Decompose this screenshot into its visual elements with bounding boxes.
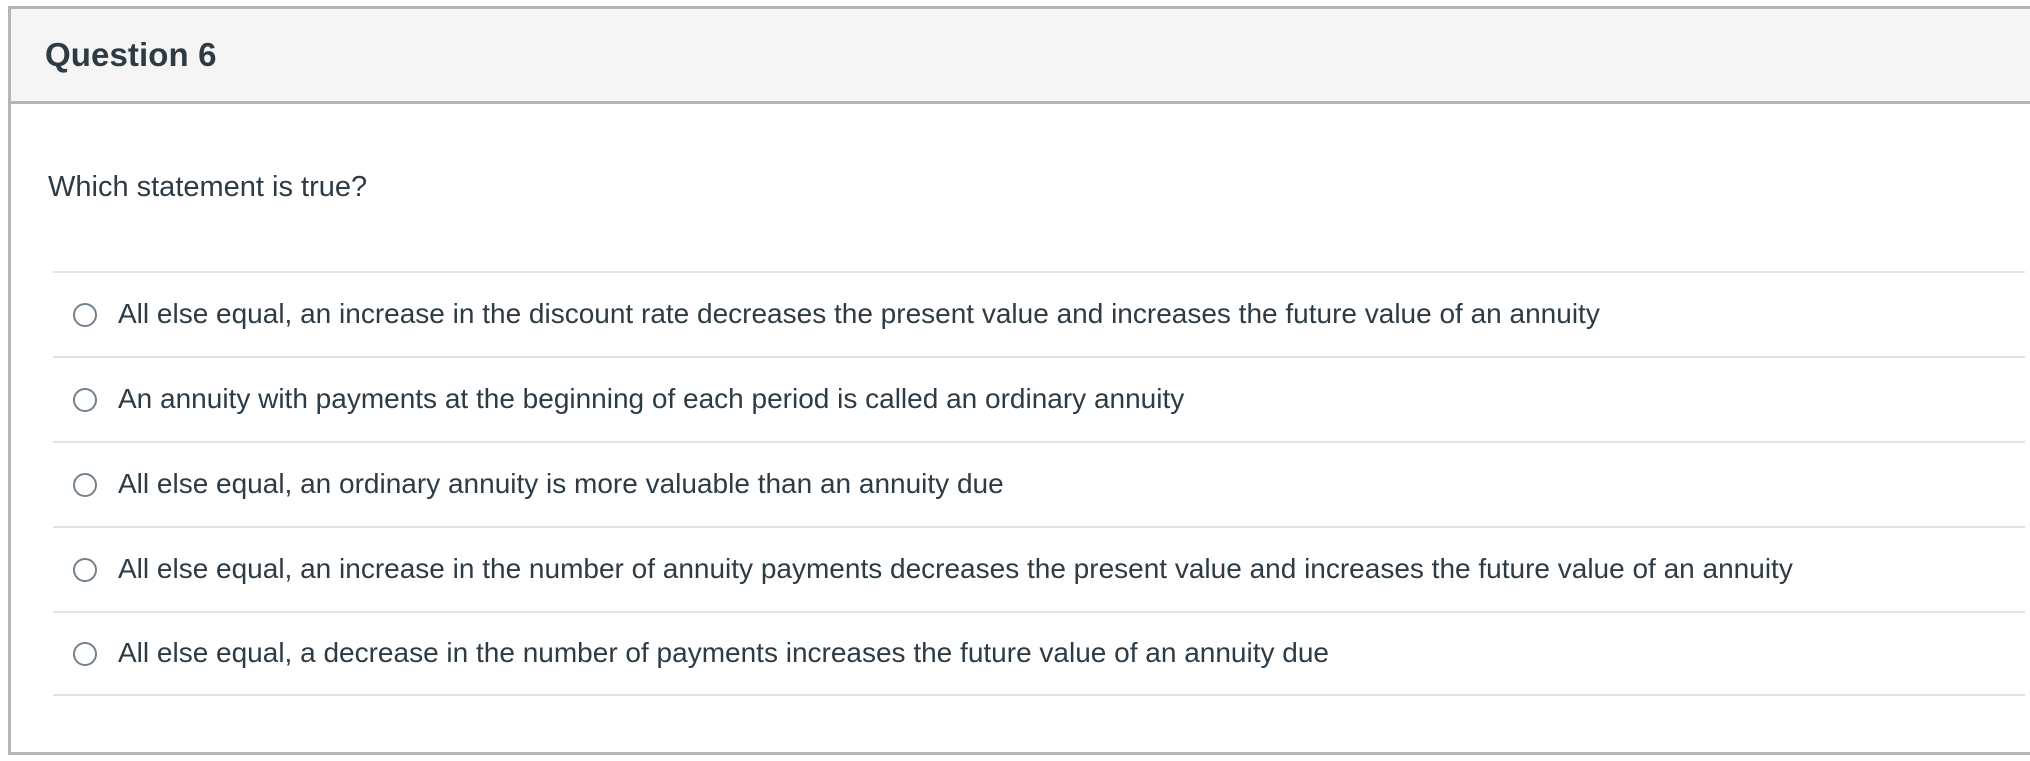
answer-list: All else equal, an increase in the disco… (11, 271, 2030, 696)
answer-option-label: All else equal, an increase in the numbe… (118, 551, 1793, 587)
radio-unselected-icon[interactable] (73, 473, 97, 497)
radio-unselected-icon[interactable] (73, 558, 97, 582)
question-prompt: Which statement is true? (11, 104, 2030, 207)
answer-option-2[interactable]: An annuity with payments at the beginnin… (53, 356, 2025, 441)
radio-unselected-icon[interactable] (73, 642, 97, 666)
answer-option-3[interactable]: All else equal, an ordinary annuity is m… (53, 441, 2025, 526)
radio-unselected-icon[interactable] (73, 388, 97, 412)
question-container: Question 6 Which statement is true? All … (8, 6, 2030, 755)
answer-option-label: All else equal, a decrease in the number… (118, 635, 1329, 671)
answer-option-label: All else equal, an ordinary annuity is m… (118, 466, 1004, 502)
answer-option-4[interactable]: All else equal, an increase in the numbe… (53, 526, 2025, 611)
answer-option-5[interactable]: All else equal, a decrease in the number… (53, 611, 2025, 696)
question-header-title: Question 6 (45, 36, 217, 74)
question-body: Which statement is true? All else equal,… (11, 104, 2030, 696)
answer-option-label: An annuity with payments at the beginnin… (118, 381, 1184, 417)
answer-option-1[interactable]: All else equal, an increase in the disco… (53, 271, 2025, 356)
radio-unselected-icon[interactable] (73, 303, 97, 327)
answer-option-label: All else equal, an increase in the disco… (118, 296, 1600, 332)
question-header: Question 6 (11, 6, 2030, 104)
